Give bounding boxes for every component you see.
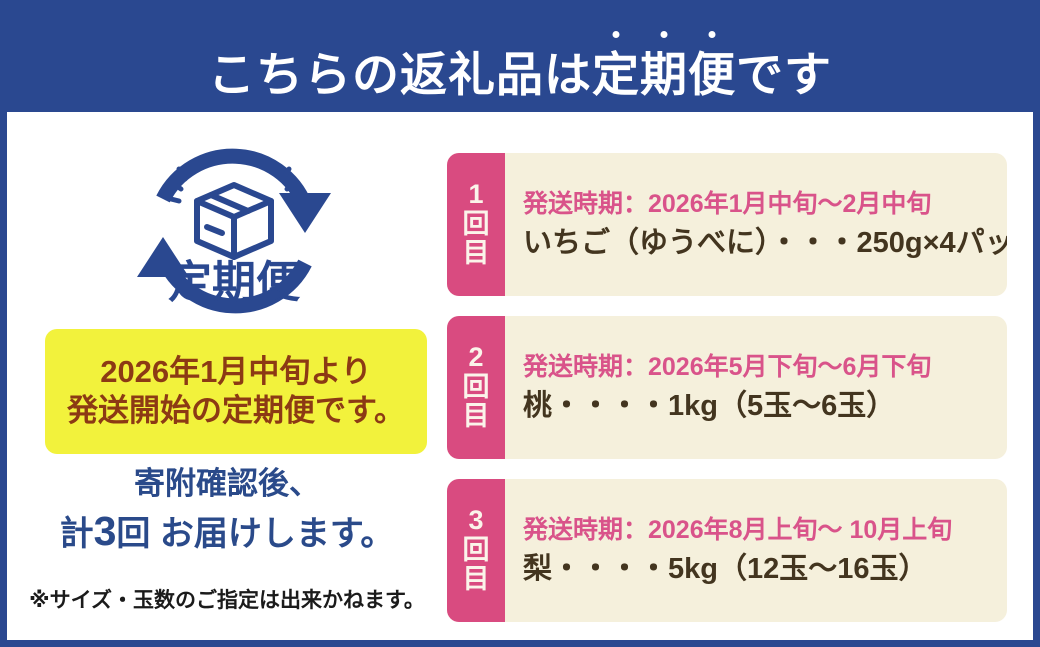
delivery-badge-number: 2 xyxy=(468,343,483,373)
delivery-badge: 1 回 目 xyxy=(447,153,505,296)
summary-line-1: 寄附確認後、 xyxy=(7,464,447,504)
delivery-badge-unit-1: 回 xyxy=(463,536,490,566)
delivery-card-body: 発送時期：2026年5月下旬～6月下旬 桃・・・・1kg（5玉～6玉） xyxy=(505,316,1007,459)
page-title-emphasis-char: 期 xyxy=(640,51,688,98)
recurring-delivery-box-icon: 定期便 xyxy=(119,137,349,327)
delivery-badge-unit-2: 目 xyxy=(463,239,490,269)
summary-count: 3 xyxy=(94,508,117,554)
delivery-badge-unit-2: 目 xyxy=(463,565,490,595)
delivery-badge-unit-2: 目 xyxy=(463,402,490,432)
summary-line-2: 計3回 お届けします。 xyxy=(7,504,447,559)
page-title-emphasis: 定期便 xyxy=(592,51,736,98)
start-date-callout: 2026年1月中旬より 発送開始の定期便です。 xyxy=(45,329,427,454)
page-title: こちらの返礼品は定期便です xyxy=(208,51,832,112)
callout-line-1: 2026年1月中旬より xyxy=(100,353,372,392)
delivery-badge-unit-1: 回 xyxy=(463,373,490,403)
summary-count-prefix: 計 xyxy=(60,515,94,553)
delivery-summary: 寄附確認後、 計3回 お届けします。 xyxy=(7,464,447,560)
delivery-period: 発送時期：2026年5月下旬～6月下旬 xyxy=(523,353,997,382)
delivery-badge: 2 回 目 xyxy=(447,316,505,459)
delivery-product: 桃・・・・1kg（5玉～6玉） xyxy=(523,390,997,423)
delivery-period: 発送時期：2026年8月上旬～ 10月上旬 xyxy=(523,516,997,545)
delivery-card-body: 発送時期：2026年8月上旬～ 10月上旬 梨・・・・5kg（12玉～16玉） xyxy=(505,479,1007,622)
teikibin-banner: こちらの返礼品は定期便です xyxy=(0,0,1040,647)
delivery-badge-number: 3 xyxy=(468,506,483,536)
delivery-product: いちご（ゆうべに）・・・250g×4パック xyxy=(523,227,1007,260)
delivery-badge-number: 1 xyxy=(468,180,483,210)
delivery-period: 発送時期：2026年1月中旬～2月中旬 xyxy=(523,190,1007,219)
left-column: 定期便 2026年1月中旬より 発送開始の定期便です。 寄附確認後、 計3回 お… xyxy=(7,119,447,647)
delivery-card: 1 回 目 発送時期：2026年1月中旬～2月中旬 いちご（ゆうべに）・・・25… xyxy=(447,153,1007,296)
summary-count-suffix: 回 お届けします。 xyxy=(116,515,394,553)
delivery-badge: 3 回 目 xyxy=(447,479,505,622)
page-title-emphasis-char: 便 xyxy=(688,51,736,98)
delivery-product: 梨・・・・5kg（12玉～16玉） xyxy=(523,553,997,586)
page-title-emphasis-char: 定 xyxy=(592,51,640,98)
callout-line-2: 発送開始の定期便です。 xyxy=(67,392,405,431)
page-title-prefix: こちらの返礼品は xyxy=(208,51,592,98)
header-band: こちらの返礼品は定期便です xyxy=(0,0,1040,112)
delivery-schedule-list: 1 回 目 発送時期：2026年1月中旬～2月中旬 いちご（ゆうべに）・・・25… xyxy=(447,119,1040,647)
logo-label: 定期便 xyxy=(168,258,301,307)
delivery-card-body: 発送時期：2026年1月中旬～2月中旬 いちご（ゆうべに）・・・250g×4パッ… xyxy=(505,153,1007,296)
delivery-badge-unit-1: 回 xyxy=(463,210,490,240)
delivery-card: 2 回 目 発送時期：2026年5月下旬～6月下旬 桃・・・・1kg（5玉～6玉… xyxy=(447,316,1007,459)
size-disclaimer-note: ※サイズ・玉数のご指定は出来かねます。 xyxy=(7,584,447,614)
delivery-card: 3 回 目 発送時期：2026年8月上旬～ 10月上旬 梨・・・・5kg（12玉… xyxy=(447,479,1007,622)
page-title-suffix: です xyxy=(736,51,832,98)
